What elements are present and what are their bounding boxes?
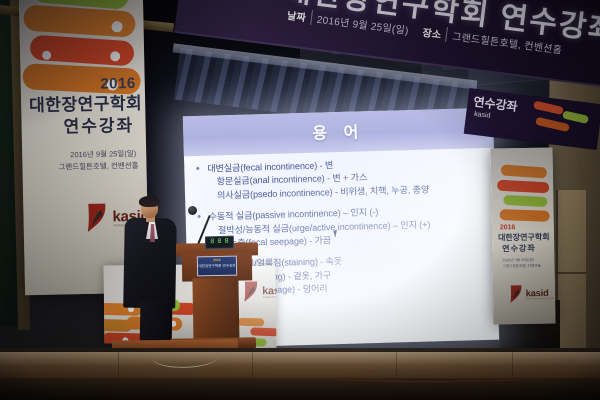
podium-name-plate: 2016 대한장연구학회 연수강좌 bbox=[197, 256, 237, 277]
floor-reflection bbox=[0, 352, 600, 366]
stage-front-edge bbox=[0, 378, 600, 400]
floor-plank-seam bbox=[252, 352, 253, 380]
floor-cable bbox=[300, 368, 560, 382]
timer-digit: 8 bbox=[216, 238, 222, 247]
timer-digit: 8 bbox=[223, 238, 229, 247]
banner-venue-label: 장소 bbox=[422, 24, 449, 42]
conference-hall-photo: 용 어 대변실금(fecal incontinence) - 변 항문실금(an… bbox=[0, 0, 600, 400]
microphone-icon bbox=[188, 206, 197, 215]
timer-digit: 8 bbox=[209, 238, 215, 247]
podium-plate-text: 대한장연구학회 연수강좌 bbox=[198, 264, 236, 270]
upper-right-banner-logo-text: kasid bbox=[474, 111, 491, 120]
podium-plate-year: 2016 bbox=[198, 258, 236, 263]
slide-bullet-block: 대변실금(fecal incontinence) - 변 항문실금(anal i… bbox=[194, 155, 485, 203]
floor-plank-seam bbox=[118, 352, 119, 380]
door-panel-line bbox=[556, 272, 586, 274]
decorative-worm-graphic bbox=[533, 101, 564, 116]
presentation-timer-display: 8 8 8 bbox=[205, 236, 234, 250]
right-standing-banner: 2016 대한장연구학회 연수강좌 2016년 9월 25일(일) 그랜드힐튼호… bbox=[490, 147, 555, 324]
speaker-glasses-icon bbox=[145, 205, 158, 209]
decorative-worm-graphic bbox=[562, 110, 589, 124]
banner-date-label: 날짜 bbox=[286, 7, 313, 25]
bullet-point-icon bbox=[196, 167, 199, 170]
right-door bbox=[556, 190, 586, 360]
right-banner-shadow bbox=[490, 147, 555, 324]
